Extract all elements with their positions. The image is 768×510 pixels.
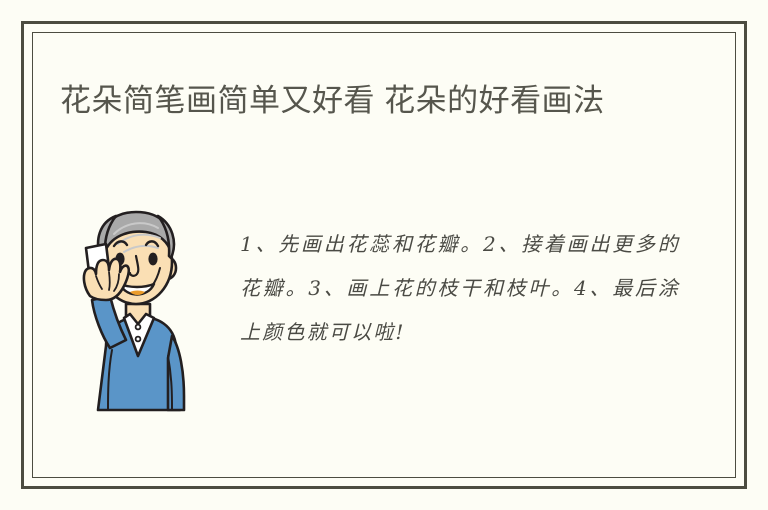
shirt-button: [136, 325, 141, 330]
article-body: 1、先画出花蕊和花瓣。2、接着画出更多的花瓣。3、画上花的枝干和枝叶。4、最后涂…: [240, 222, 680, 354]
elderly-man-on-phone-illustration: [68, 196, 208, 426]
article-content: 1、先画出花蕊和花瓣。2、接着画出更多的花瓣。3、画上花的枝干和枝叶。4、最后涂…: [44, 184, 724, 466]
page-title: 花朵简笔画简单又好看 花朵的好看画法: [60, 77, 688, 124]
eye-right: [148, 253, 157, 266]
shirt-button: [136, 337, 141, 342]
article-card: 花朵简笔画简单又好看 花朵的好看画法: [21, 21, 747, 489]
